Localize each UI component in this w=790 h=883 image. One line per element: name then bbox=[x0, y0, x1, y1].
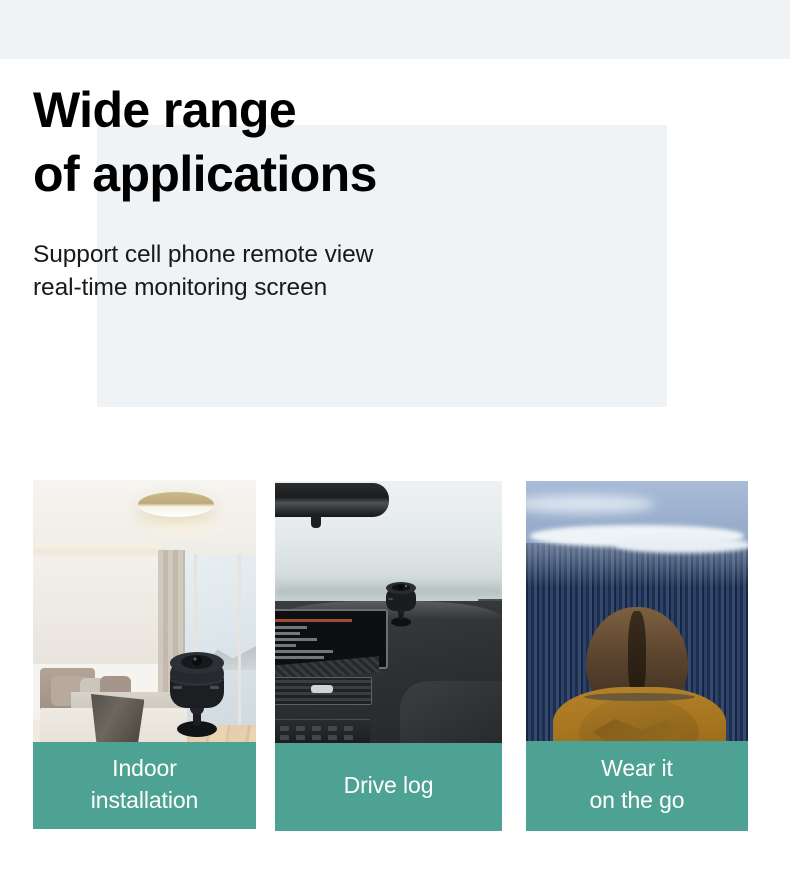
ceiling-lamp-icon bbox=[138, 492, 214, 517]
mini-camera-icon bbox=[165, 646, 229, 738]
hero-text-block: Wide range of applications Support cell … bbox=[33, 59, 733, 304]
hero-section: Wide range of applications Support cell … bbox=[0, 59, 790, 459]
application-card-indoor-installation[interactable]: Indoor installation bbox=[33, 480, 256, 829]
vent-knob bbox=[311, 685, 333, 693]
card-caption-indoor-installation: Indoor installation bbox=[33, 742, 256, 829]
jacket-collar bbox=[584, 693, 695, 701]
cove-light bbox=[33, 544, 162, 553]
radio-panel bbox=[275, 719, 370, 744]
rearview-mirror bbox=[275, 483, 389, 517]
application-card-drive-log[interactable]: 5:41 21.5° Drive log bbox=[275, 481, 502, 831]
window-frame bbox=[238, 554, 241, 732]
hair-part bbox=[628, 611, 646, 699]
application-card-wear-on-the-go[interactable]: Wear it on the go bbox=[526, 481, 748, 831]
page-title: Wide range of applications bbox=[33, 59, 733, 206]
card-caption-drive-log: Drive log bbox=[275, 743, 502, 831]
top-accent-strip bbox=[0, 0, 790, 59]
snow-band bbox=[615, 537, 748, 553]
rearview-mirror-stem bbox=[311, 515, 321, 528]
card-caption-wear-on-the-go: Wear it on the go bbox=[526, 741, 748, 831]
mini-camera-icon bbox=[384, 579, 418, 627]
page-subtitle: Support cell phone remote view real-time… bbox=[33, 206, 733, 304]
